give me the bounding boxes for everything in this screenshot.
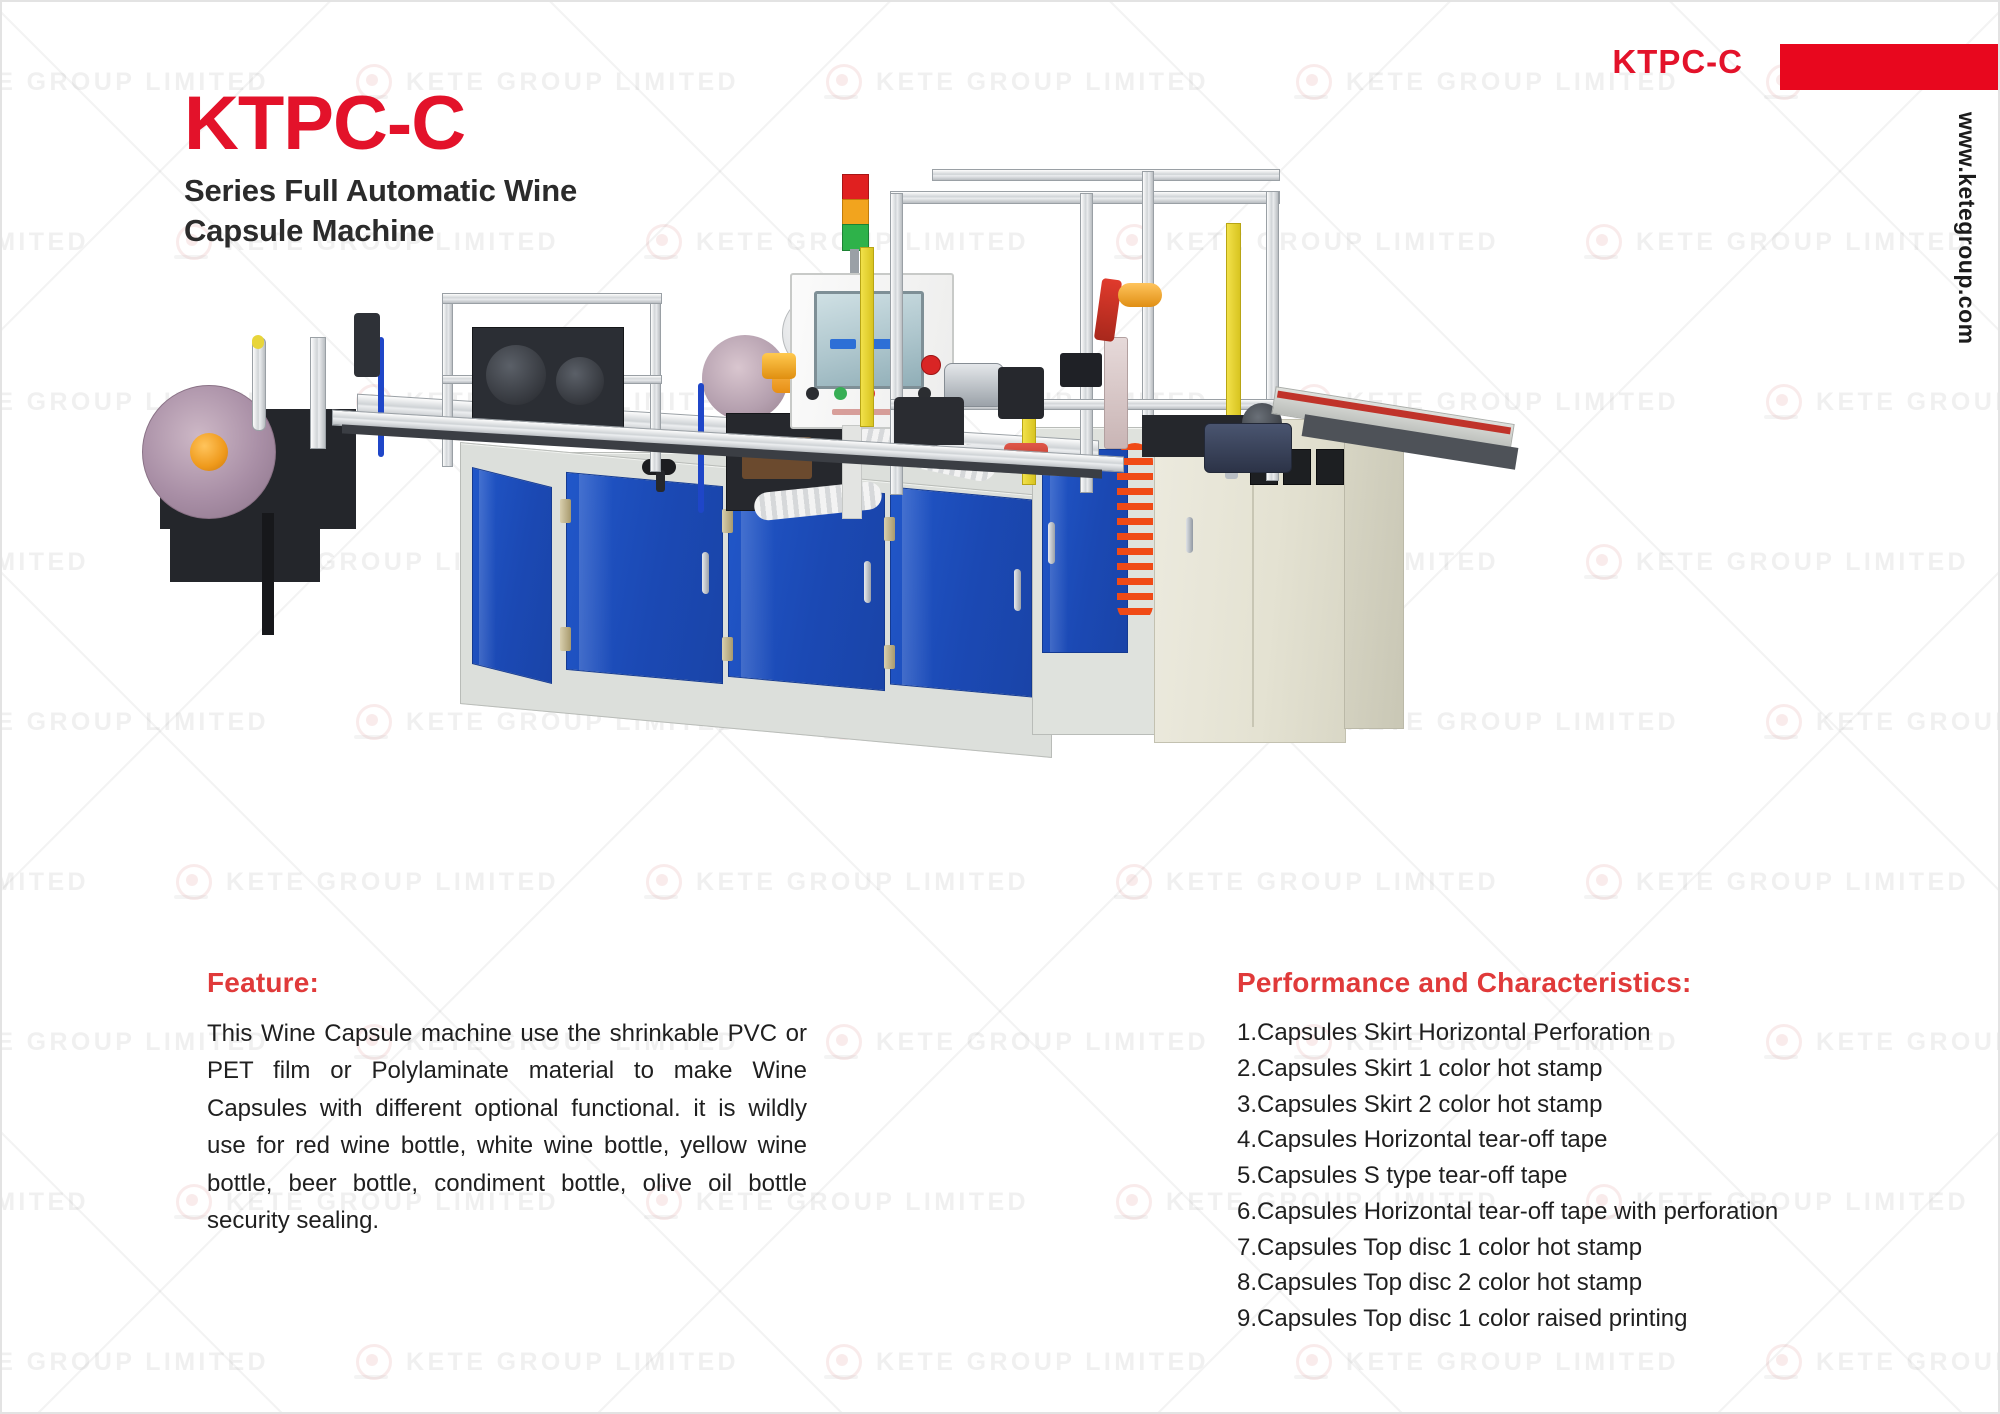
watermark-mark: KETE GROUP LIMITED xyxy=(352,1342,822,1382)
title-block: KTPC-C Series Full Automatic Wine Capsul… xyxy=(184,88,577,250)
cabinet-door-3 xyxy=(890,487,1032,698)
corner-door-handle xyxy=(1048,522,1055,564)
kete-logo-icon xyxy=(1112,1182,1152,1222)
subtitle-line-1: Series Full Automatic Wine xyxy=(184,171,577,211)
watermark-label: KETE GROUP LIMITED xyxy=(1346,1348,1679,1377)
door-hinge xyxy=(884,517,895,541)
gearbox-1 xyxy=(998,367,1044,419)
page-title: KTPC-C xyxy=(184,88,577,161)
dancer-arm xyxy=(252,337,266,431)
push-button-green-1[interactable] xyxy=(834,387,847,400)
kete-logo-icon xyxy=(1762,1342,1802,1382)
watermark-label: KETE GROUP LIMITED xyxy=(0,228,89,257)
performance-item: 3.Capsules Skirt 2 color hot stamp xyxy=(1237,1087,1857,1123)
product-photo xyxy=(142,187,1872,927)
corner-model-code: KTPC-C xyxy=(1612,43,1743,81)
kete-logo-icon xyxy=(822,62,862,102)
watermark-label: KETE GROUP LIMITED xyxy=(876,68,1209,97)
dancer-arm-tip xyxy=(252,335,264,349)
discharge-drive-motor xyxy=(1204,423,1292,473)
guard-cage-post-mid xyxy=(1080,193,1093,493)
watermark-label: KETE GROUP LIMITED xyxy=(0,1348,269,1377)
watermark-label: KETE GROUP LIMITED xyxy=(876,1028,1209,1057)
tower-light-red xyxy=(842,174,869,201)
selector-switch[interactable] xyxy=(806,387,819,400)
feature-body-text: This Wine Capsule machine use the shrink… xyxy=(207,1015,807,1240)
film-reel-hub[interactable] xyxy=(190,433,228,471)
watermark-mark: KETE GROUP LIMITED xyxy=(0,1182,172,1222)
performance-item: 8.Capsules Top disc 2 color hot stamp xyxy=(1237,1265,1857,1301)
watermark-mark: KETE GROUP LIMITED xyxy=(0,1342,352,1382)
watermark-label: KETE GROUP LIMITED xyxy=(0,1188,89,1217)
door-handle-2 xyxy=(864,561,871,604)
electrical-cabinet-side xyxy=(1344,427,1404,729)
electrical-cabinet-handle xyxy=(1186,517,1193,553)
performance-list: 1.Capsules Skirt Horizontal Perforation2… xyxy=(1237,1015,1857,1337)
performance-item: 9.Capsules Top disc 1 color raised print… xyxy=(1237,1301,1857,1337)
door-hinge xyxy=(560,499,571,523)
brochure-page: KETE GROUP LIMITEDKETE GROUP LIMITEDKETE… xyxy=(0,0,2000,1414)
subtitle-line-2: Capsule Machine xyxy=(184,211,577,251)
cabinet-latch-stem xyxy=(656,470,665,492)
guard-top-rail xyxy=(442,293,662,304)
performance-section: Performance and Characteristics: 1.Capsu… xyxy=(1237,967,1857,1337)
watermark-mark: KETE GROUP LIMITED xyxy=(1762,1342,2000,1382)
kete-logo-icon xyxy=(822,1022,862,1062)
page-subtitle: Series Full Automatic Wine Capsule Machi… xyxy=(184,171,577,250)
sensor-block xyxy=(1060,353,1102,387)
watermark-label: KETE GROUP LIMITED xyxy=(0,548,89,577)
capsule-feed-chute xyxy=(1104,337,1128,449)
feature-heading: Feature: xyxy=(207,967,807,999)
watermark-row: KETE GROUP LIMITEDKETE GROUP LIMITEDKETE… xyxy=(0,1342,2000,1382)
door-handle-1 xyxy=(702,552,709,595)
guard-cage-top-rail-back xyxy=(932,169,1280,181)
website-url: www.ketegroup.com xyxy=(1953,112,1980,345)
watermark-mark: KETE GROUP LIMITED xyxy=(822,1022,1292,1062)
watermark-label: KETE GROUP LIMITED xyxy=(406,1348,739,1377)
kete-logo-icon xyxy=(822,1342,862,1382)
cabinet-side-door xyxy=(472,467,552,684)
watermark-mark: KETE GROUP LIMITED xyxy=(1292,1342,1762,1382)
watermark-label: KETE GROUP LIMITED xyxy=(876,1348,1209,1377)
door-hinge xyxy=(884,645,895,669)
kete-logo-icon xyxy=(172,1182,212,1222)
panel-disconnect-switch[interactable] xyxy=(762,353,796,379)
feed-cylinder-red xyxy=(1094,278,1122,342)
performance-item: 1.Capsules Skirt Horizontal Perforation xyxy=(1237,1015,1857,1051)
kete-logo-icon xyxy=(1292,62,1332,102)
door-handle-3 xyxy=(1014,569,1021,612)
perforation-roller xyxy=(486,345,546,405)
performance-item: 5.Capsules S type tear-off tape xyxy=(1237,1158,1857,1194)
kete-logo-icon xyxy=(352,1342,392,1382)
performance-item: 7.Capsules Top disc 1 color hot stamp xyxy=(1237,1230,1857,1266)
performance-item: 6.Capsules Horizontal tear-off tape with… xyxy=(1237,1194,1857,1230)
performance-heading: Performance and Characteristics: xyxy=(1237,967,1857,999)
tower-light-amber xyxy=(842,199,869,226)
door-hinge xyxy=(722,509,733,533)
cabinet-switch-plate-3[interactable] xyxy=(1316,449,1344,485)
unwinder-support-post xyxy=(262,513,274,635)
safety-post-yellow-1 xyxy=(860,247,874,427)
watermark-mark: KETE GROUP LIMITED xyxy=(822,1342,1292,1382)
feature-section: Feature: This Wine Capsule machine use t… xyxy=(207,967,807,1240)
watermark-mark: KETE GROUP LIMITED xyxy=(822,62,1292,102)
pneumatic-cylinder xyxy=(354,313,380,377)
emergency-stop-button[interactable] xyxy=(921,355,941,375)
kete-logo-icon xyxy=(1292,1342,1332,1382)
corner-red-bar xyxy=(1780,44,1998,90)
performance-item: 2.Capsules Skirt 1 color hot stamp xyxy=(1237,1051,1857,1087)
perforation-roller-2 xyxy=(556,357,604,405)
hmi-screen-widget-1 xyxy=(830,339,856,349)
door-hinge xyxy=(722,637,733,661)
door-hinge xyxy=(560,627,571,651)
idler-roller-arm xyxy=(310,337,326,449)
performance-item: 4.Capsules Horizontal tear-off tape xyxy=(1237,1122,1857,1158)
watermark-label: KETE GROUP LIMITED xyxy=(1816,1348,2000,1377)
watermark-label: KETE GROUP LIMITED xyxy=(0,868,89,897)
feed-cylinder-orange xyxy=(1118,283,1162,307)
